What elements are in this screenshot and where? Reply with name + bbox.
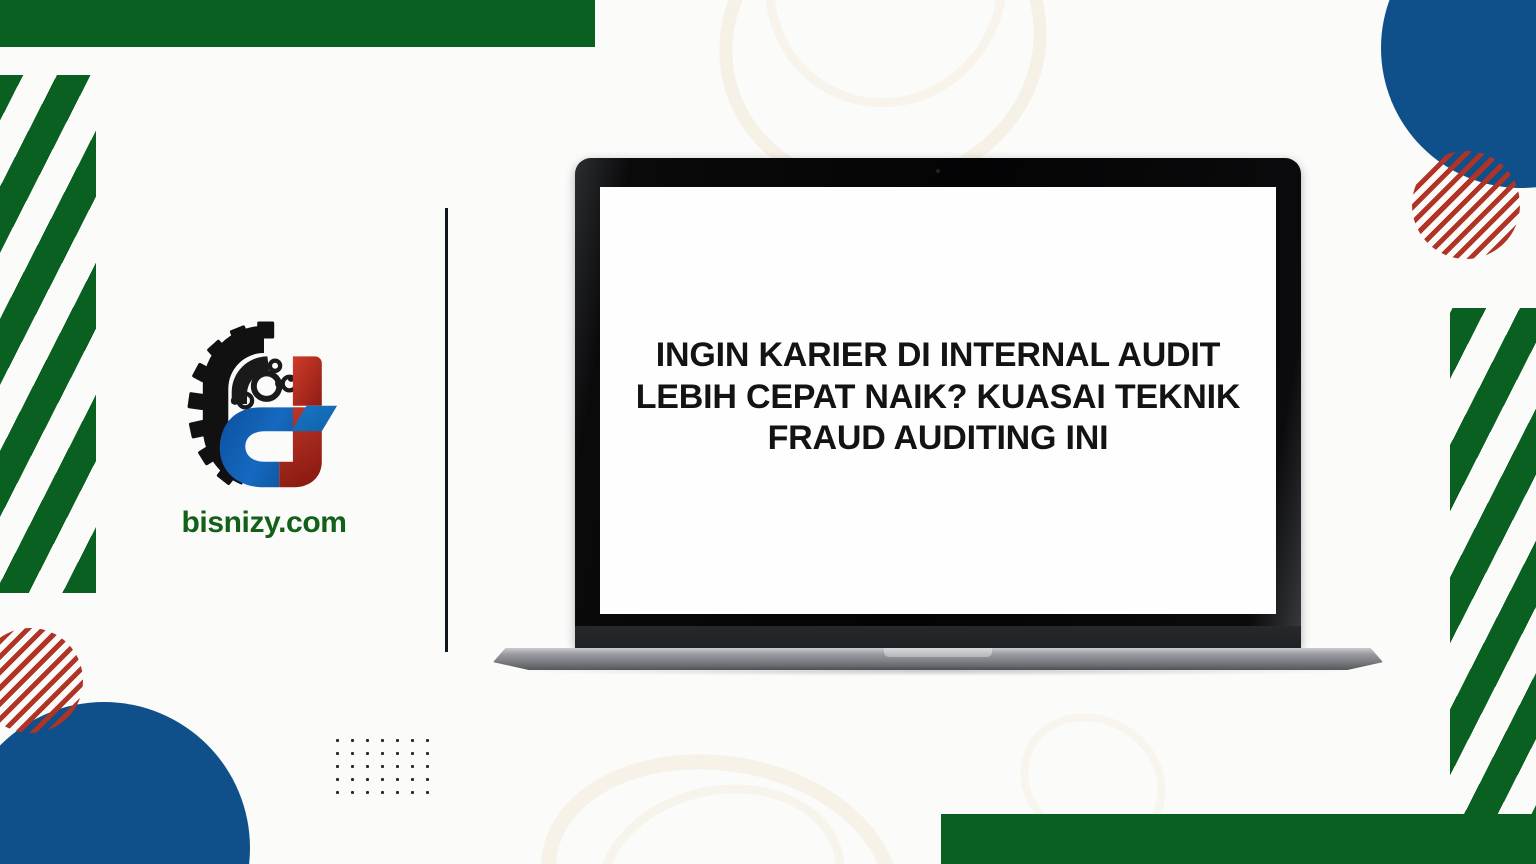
webcam-dot-icon — [936, 169, 940, 173]
red-hatch-circle-top-right — [1412, 151, 1520, 259]
laptop-lid: INGIN KARIER DI INTERNAL AUDIT LEBIH CEP… — [575, 158, 1301, 648]
laptop-screen: INGIN KARIER DI INTERNAL AUDIT LEBIH CEP… — [600, 187, 1276, 614]
vertical-divider — [445, 208, 448, 652]
green-stripes-right — [1450, 308, 1536, 824]
background-swirl-icon — [726, 0, 1047, 146]
background-swirl-icon — [523, 729, 918, 864]
brand-block: bisnizy.com — [150, 318, 378, 540]
background-swirl-icon — [579, 762, 863, 864]
green-bar-bottom — [941, 814, 1536, 864]
brand-name: bisnizy.com — [150, 506, 378, 540]
laptop-base-notch — [884, 648, 992, 657]
poster-canvas: bisnizy.com INGIN KARIER DI INTERNAL AUD… — [0, 0, 1536, 864]
laptop-mockup: INGIN KARIER DI INTERNAL AUDIT LEBIH CEP… — [493, 158, 1383, 668]
dot-grid — [336, 739, 441, 804]
gear-logo-icon — [179, 318, 349, 490]
green-bar-top — [0, 0, 595, 47]
green-stripes-left — [0, 75, 96, 593]
laptop-shadow — [519, 666, 1357, 676]
screen-headline: INGIN KARIER DI INTERNAL AUDIT LEBIH CEP… — [600, 335, 1276, 459]
